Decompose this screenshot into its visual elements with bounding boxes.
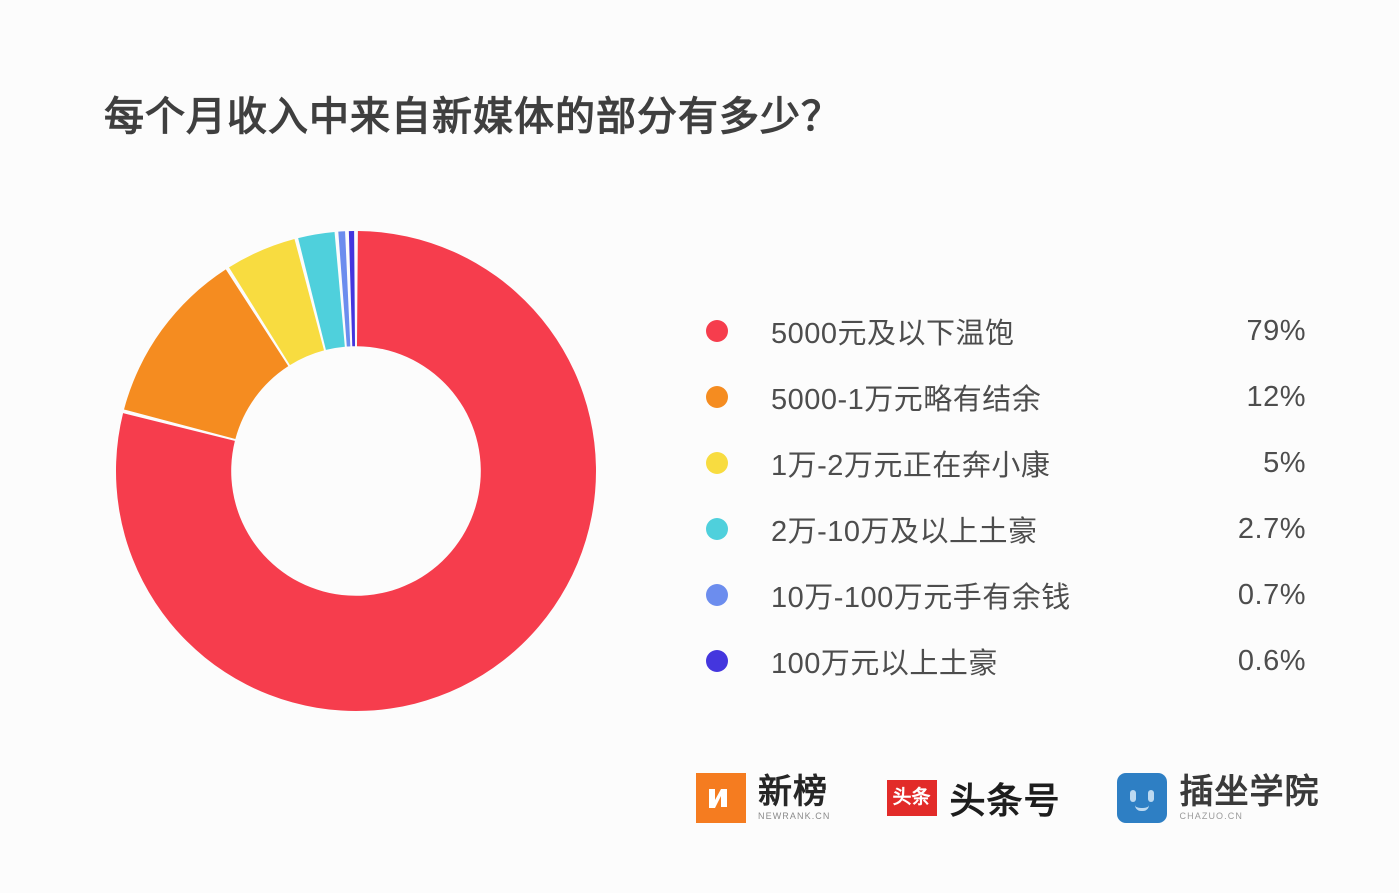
newrank-mark-icon xyxy=(696,773,746,823)
chazuo-eye-left-icon xyxy=(1130,790,1136,802)
footer-logo-bar: 新榜 NEWRANK.CN 头条 头条号 插坐学院 CHAZUO.CN xyxy=(696,772,1320,824)
legend-swatch-icon xyxy=(706,584,728,606)
toutiao-name-cn: 头条号 xyxy=(950,772,1061,824)
legend-item-value: 12% xyxy=(1186,381,1306,414)
logo-toutiaohao: 头条 头条号 xyxy=(887,772,1061,824)
legend-item[interactable]: 10万-100万元手有余钱0.7% xyxy=(706,562,1306,628)
page-title: 每个月收入中来自新媒体的部分有多少？ xyxy=(104,84,842,142)
logo-newrank: 新榜 NEWRANK.CN xyxy=(696,773,831,823)
chazuo-name-cn: 插坐学院 xyxy=(1180,775,1320,810)
legend-swatch-icon xyxy=(706,452,728,474)
donut-slice[interactable] xyxy=(349,231,355,346)
legend-item[interactable]: 5000元及以下温饱79% xyxy=(706,298,1306,364)
legend-item[interactable]: 5000-1万元略有结余12% xyxy=(706,364,1306,430)
legend-item-value: 5% xyxy=(1186,447,1306,480)
legend-item-label: 5000元及以下温饱 xyxy=(771,310,1186,352)
legend-item-label: 100万元以上土豪 xyxy=(771,640,1186,682)
chazuo-text: 插坐学院 CHAZUO.CN xyxy=(1180,775,1320,822)
chart-page: 每个月收入中来自新媒体的部分有多少？ 5000元及以下温饱79%5000-1万元… xyxy=(0,0,1399,893)
legend-item[interactable]: 1万-2万元正在奔小康5% xyxy=(706,430,1306,496)
newrank-text: 新榜 NEWRANK.CN xyxy=(758,775,831,822)
legend-swatch-icon xyxy=(706,320,728,342)
chart-legend: 5000元及以下温饱79%5000-1万元略有结余12%1万-2万元正在奔小康5… xyxy=(706,298,1306,694)
legend-item-label: 1万-2万元正在奔小康 xyxy=(771,442,1186,484)
legend-item-value: 0.7% xyxy=(1186,579,1306,612)
legend-item[interactable]: 2万-10万及以上土豪2.7% xyxy=(706,496,1306,562)
chazuo-name-en: CHAZUO.CN xyxy=(1180,811,1320,821)
legend-swatch-icon xyxy=(706,386,728,408)
donut-slice-group xyxy=(116,231,596,711)
chazuo-mouth-icon xyxy=(1135,804,1149,811)
newrank-name-cn: 新榜 xyxy=(758,775,831,810)
chazuo-eye-right-icon xyxy=(1148,790,1154,802)
logo-chazuo: 插坐学院 CHAZUO.CN xyxy=(1117,773,1320,823)
legend-swatch-icon xyxy=(706,650,728,672)
legend-item-value: 79% xyxy=(1186,315,1306,348)
legend-item-label: 10万-100万元手有余钱 xyxy=(771,574,1186,616)
toutiao-mark-icon: 头条 xyxy=(887,780,937,816)
legend-item-label: 5000-1万元略有结余 xyxy=(771,376,1186,418)
legend-item[interactable]: 100万元以上土豪0.6% xyxy=(706,628,1306,694)
chazuo-face-icon xyxy=(1117,773,1167,823)
legend-item-value: 2.7% xyxy=(1186,513,1306,546)
newrank-name-en: NEWRANK.CN xyxy=(758,811,831,821)
legend-item-value: 0.6% xyxy=(1186,645,1306,678)
donut-chart-svg xyxy=(113,228,599,714)
donut-chart xyxy=(113,228,599,714)
legend-item-label: 2万-10万及以上土豪 xyxy=(771,508,1186,550)
legend-swatch-icon xyxy=(706,518,728,540)
